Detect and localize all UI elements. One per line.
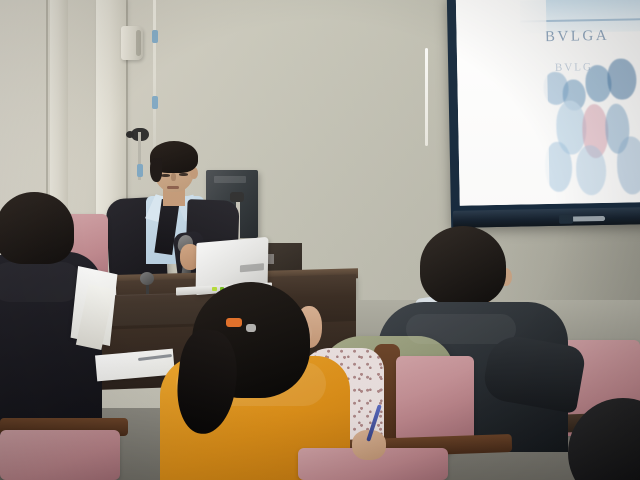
hair-clip [246, 324, 256, 332]
audience-left-head [0, 192, 74, 264]
chair-backrest [0, 430, 120, 480]
photograph-scene: BVLGA BVLG [0, 0, 640, 480]
orange-hair-tie [226, 318, 242, 327]
audience-left-shoulder-highlight [0, 262, 82, 302]
